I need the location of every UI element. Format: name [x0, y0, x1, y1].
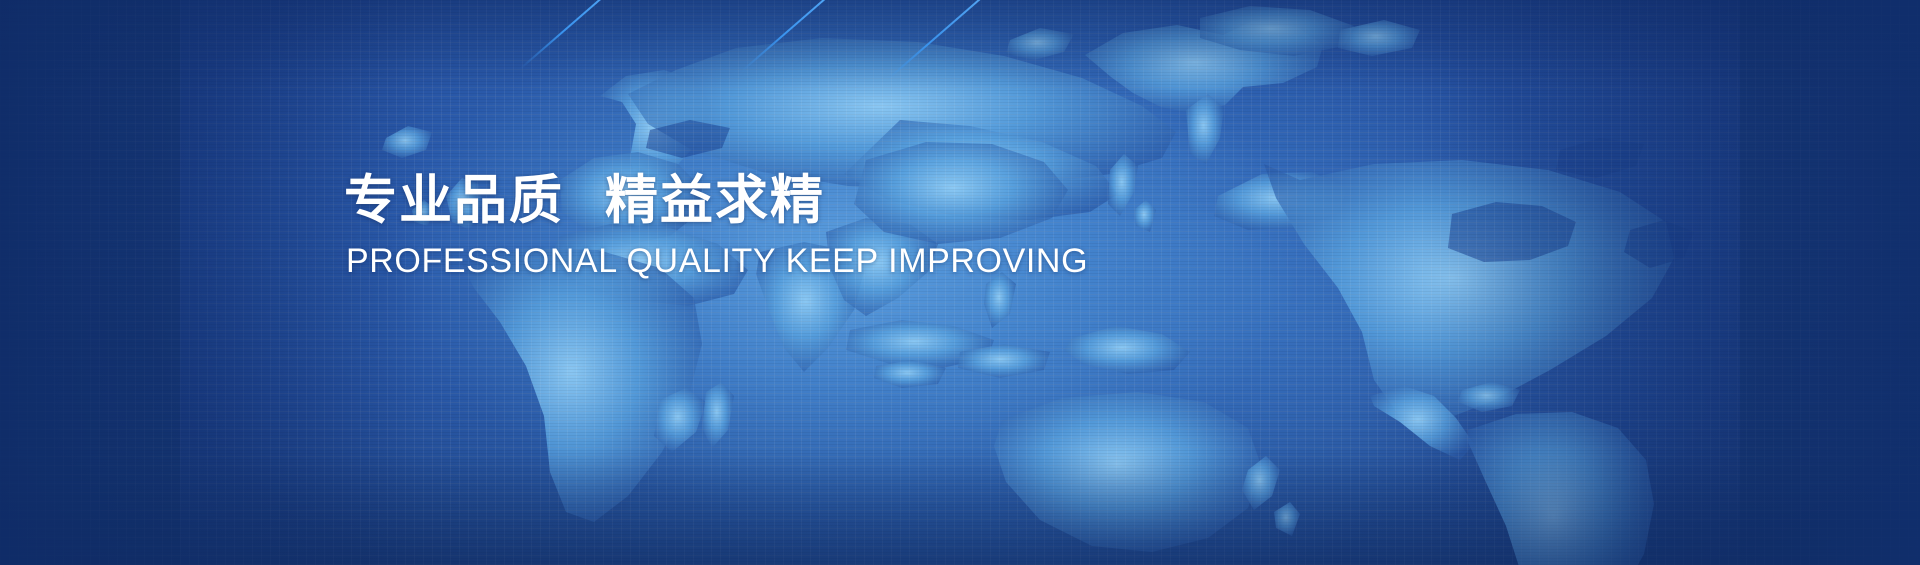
- landmasses: [382, 6, 1674, 565]
- world-map-graphic: [0, 0, 1920, 565]
- headline-english: PROFESSIONAL QUALITY KEEP IMPROVING: [346, 243, 1444, 280]
- hero-banner: 专业品质 精益求精 PROFESSIONAL QUALITY KEEP IMPR…: [0, 0, 1920, 565]
- headline-block: 专业品质 精益求精 PROFESSIONAL QUALITY KEEP IMPR…: [344, 170, 1444, 280]
- headline-chinese: 专业品质 精益求精: [344, 170, 1444, 233]
